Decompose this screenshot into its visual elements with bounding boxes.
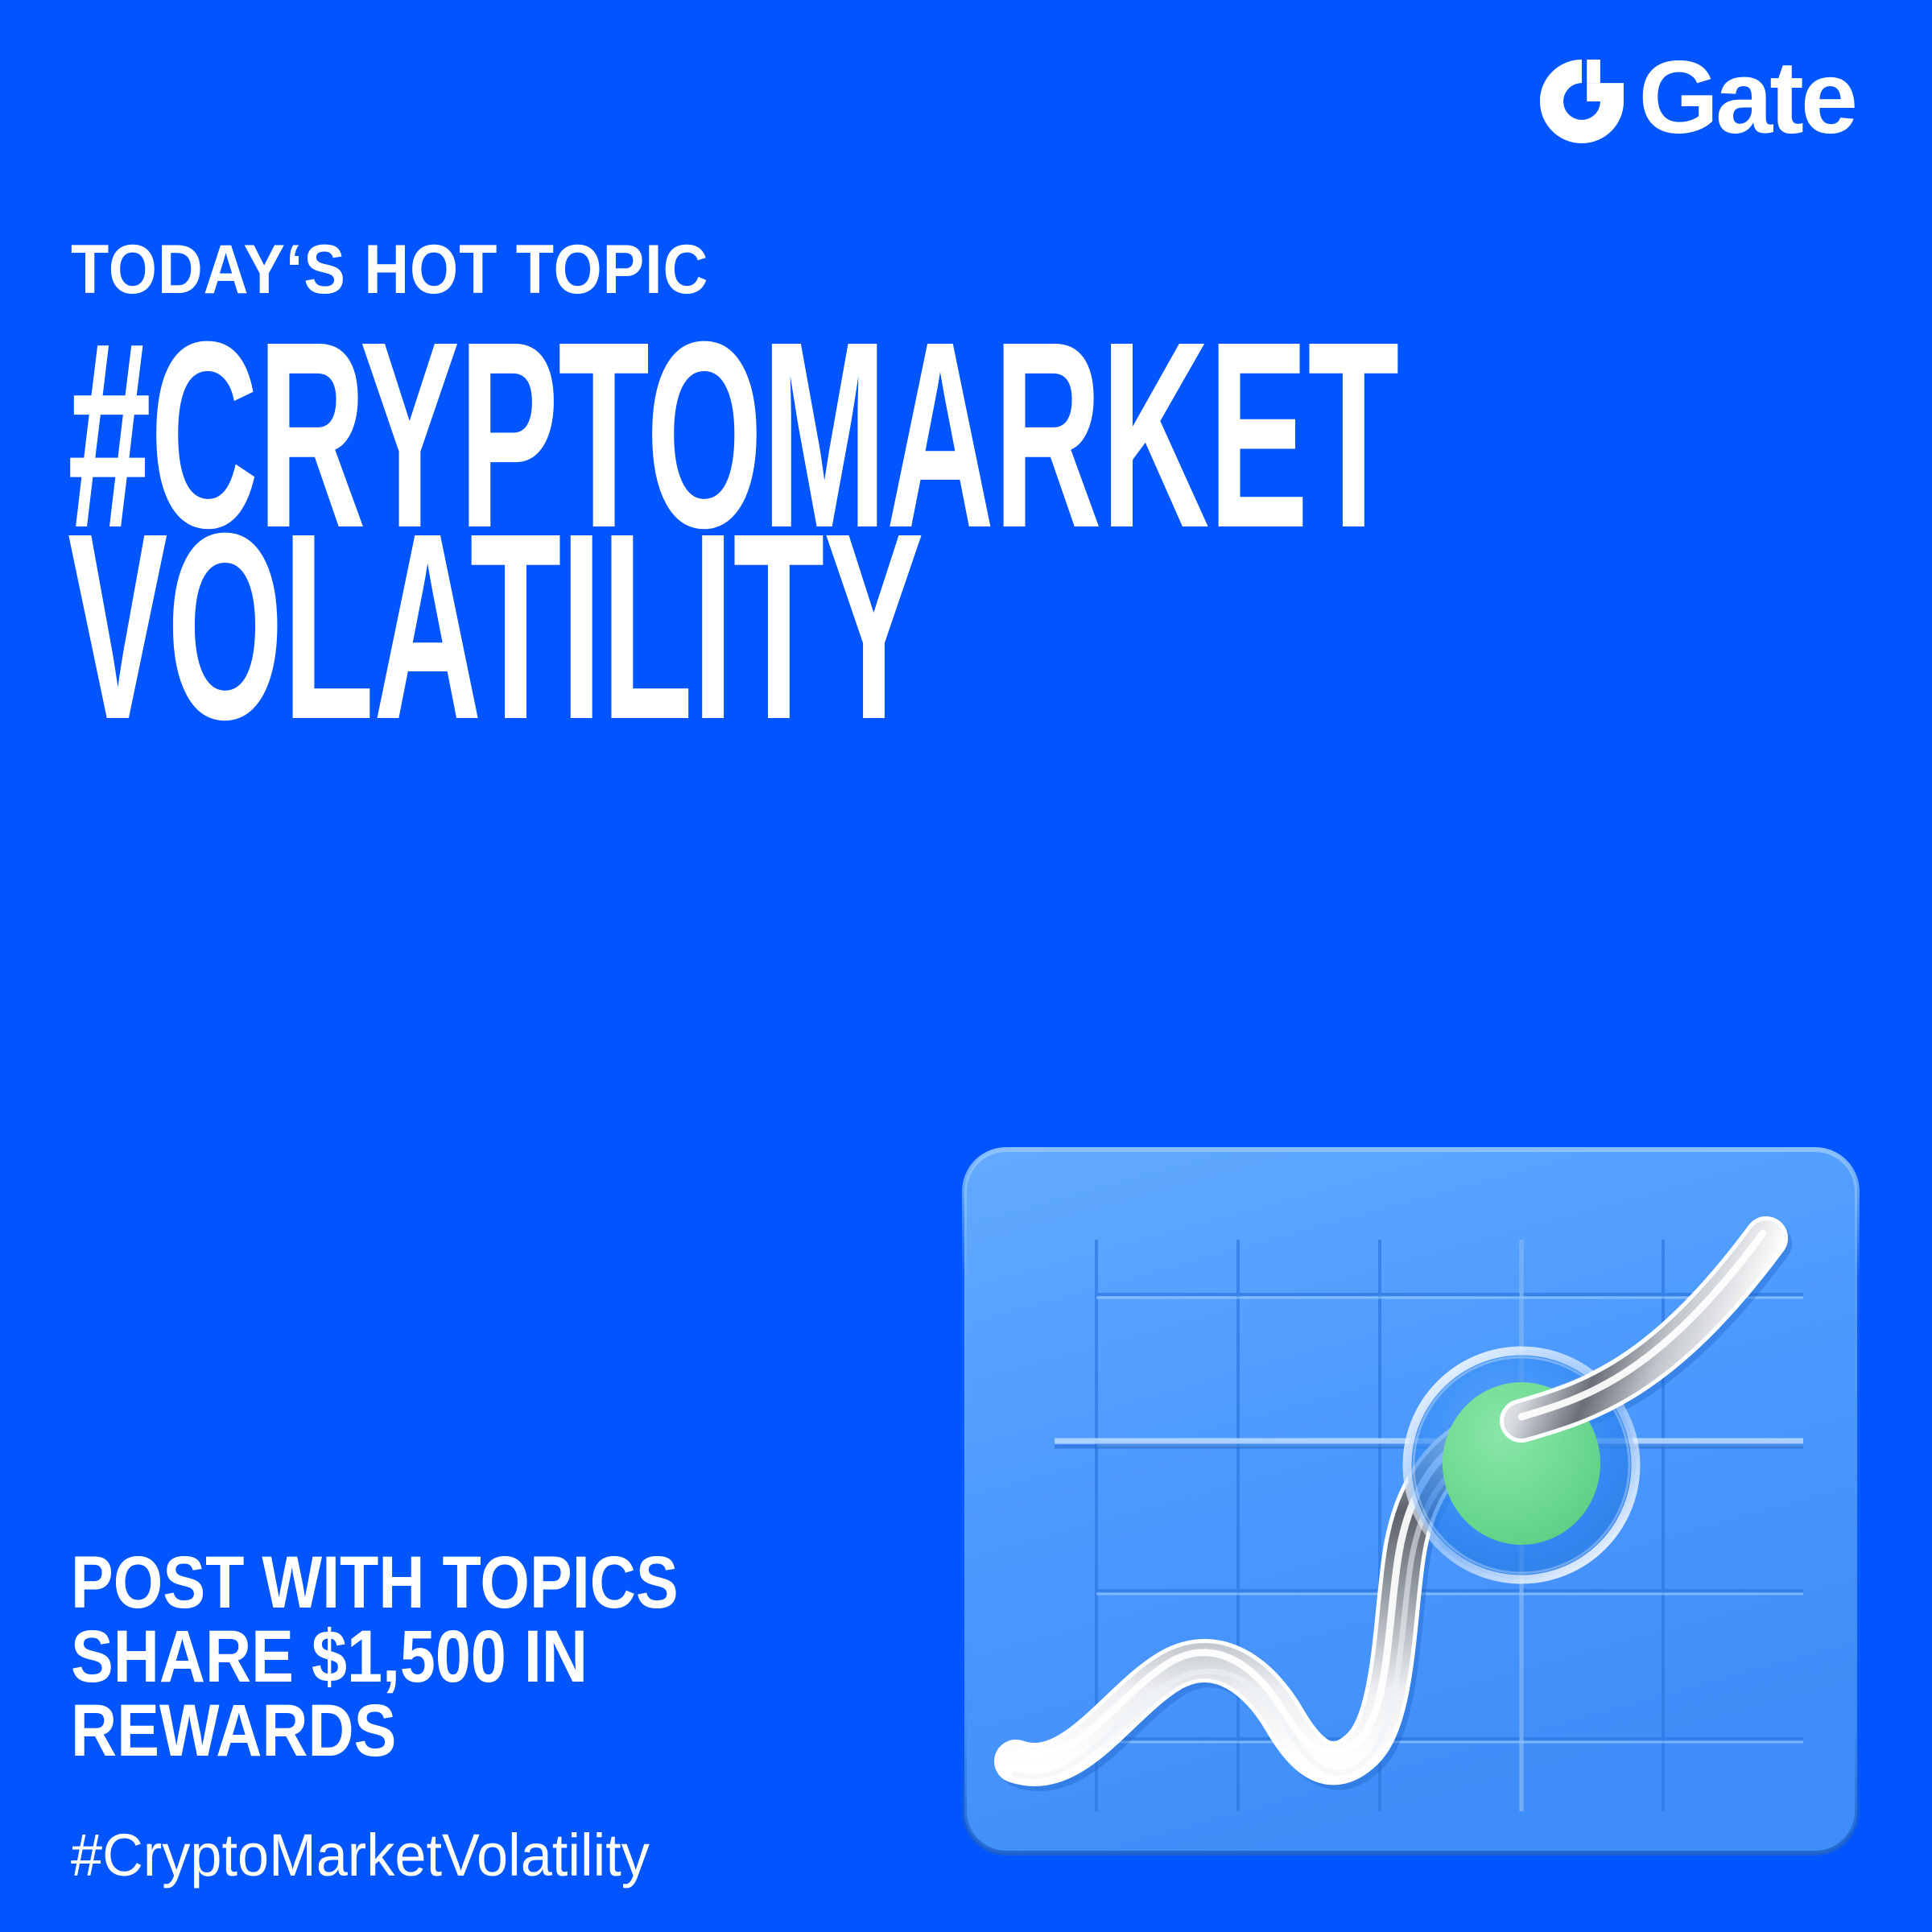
- promo-line-1: POST WITH TOPICS: [71, 1546, 679, 1620]
- promo-line-2: SHARE $1,500 IN: [71, 1620, 679, 1694]
- hashtag-text: #CryptoMarketVolatility: [71, 1826, 650, 1885]
- poster-canvas: Gate TODAY‘S HOT TOPIC #CRYPTOMARKET VOL…: [0, 0, 1932, 1932]
- chart-illustration-svg: [958, 1143, 1864, 1860]
- promo-block: POST WITH TOPICS SHARE $1,500 IN REWARDS: [71, 1546, 777, 1768]
- brand-wordmark: Gate: [1638, 47, 1855, 150]
- gate-logo-mark-icon: [1540, 60, 1624, 143]
- page-title: #CRYPTOMARKET VOLATILITY: [68, 328, 1932, 733]
- headline-line-2: VOLATILITY: [68, 520, 1398, 733]
- chart-illustration: [958, 1143, 1864, 1860]
- promo-line-3: REWARDS: [71, 1694, 679, 1768]
- brand-logo[interactable]: Gate: [1540, 50, 1855, 153]
